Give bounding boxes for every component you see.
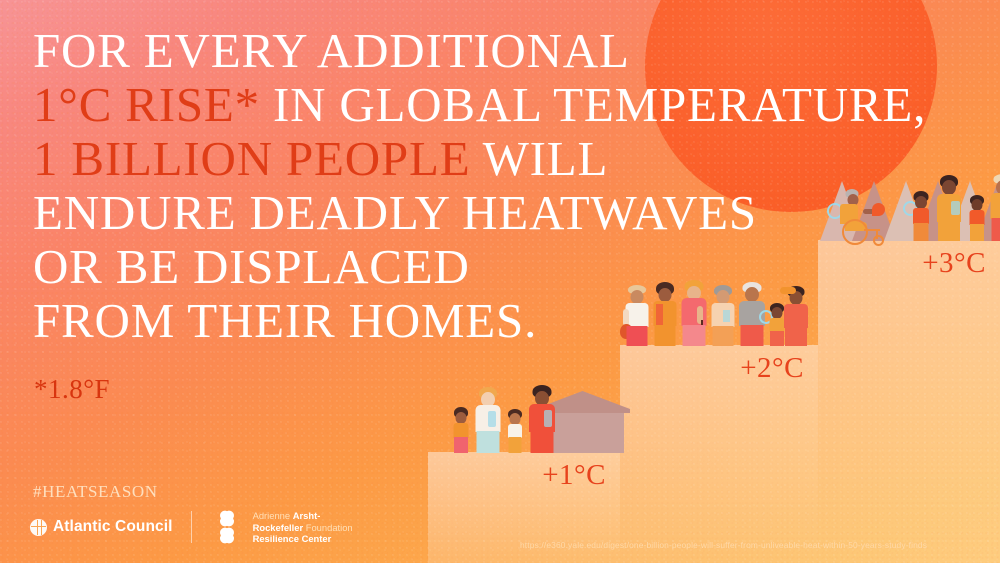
- person-adult: [988, 173, 1000, 241]
- infographic-poster: FOR EVERY ADDITIONAL 1°C RISE* IN GLOBAL…: [0, 0, 1000, 563]
- headline-line-2: 1°C RISE* IN GLOBAL TEMPERATURE,: [33, 78, 893, 132]
- headline-line-4: ENDURE DEADLY HEATWAVES: [33, 186, 893, 240]
- person-worker-with-shovel: [622, 284, 652, 346]
- legs: [992, 218, 1000, 241]
- head: [745, 287, 759, 302]
- arsht-rockefeller: Rockefeller: [253, 522, 306, 533]
- hashtag-heatseason: #HEATSEASON: [33, 482, 158, 502]
- footnote-fahrenheit: *1.8°F: [34, 374, 110, 405]
- torso: [784, 304, 808, 328]
- legs: [477, 431, 500, 453]
- headline-segment: OR BE DISPLACED: [33, 239, 470, 294]
- arsht-rock-logo[interactable]: Adrienne Arsht- Rockefeller Foundation R…: [210, 510, 353, 545]
- bag: [723, 310, 730, 322]
- pinwheel-icon: [210, 510, 244, 544]
- scene-displacement-tents: [818, 168, 1000, 241]
- headline-segment: FOR EVERY ADDITIONAL: [33, 23, 630, 78]
- person-adult: [472, 387, 504, 453]
- water-bottle-icon: [780, 287, 796, 294]
- legs: [713, 326, 734, 346]
- torso: [913, 208, 929, 224]
- headline-segment-accent: 1°C RISE*: [33, 77, 260, 132]
- legs: [454, 437, 468, 453]
- step-label-3c: +3°C: [922, 247, 986, 280]
- head: [631, 290, 644, 304]
- step-bar-3c: +3°C: [818, 240, 1000, 563]
- bag: [951, 201, 960, 215]
- legs: [655, 325, 676, 346]
- bag: [544, 410, 552, 427]
- person-adult: [934, 175, 964, 241]
- headline-segment: IN GLOBAL TEMPERATURE,: [260, 77, 926, 132]
- legs: [509, 437, 522, 453]
- legs: [683, 325, 706, 346]
- headline-segment: ENDURE DEADLY HEATWAVES: [33, 185, 757, 240]
- head: [942, 180, 956, 195]
- headline-line-1: FOR EVERY ADDITIONAL: [33, 24, 893, 78]
- person-adult: [526, 385, 558, 453]
- logo-row: Atlantic Council Adrienne Arsht- Rockefe…: [30, 510, 353, 545]
- person-adult: [650, 282, 680, 346]
- arsht-line-1: Adrienne Arsht-: [253, 510, 353, 522]
- arsht-arsht: Arsht-: [293, 510, 321, 521]
- person-child: [450, 405, 472, 453]
- atlantic-council-label: Atlantic Council: [53, 518, 173, 536]
- globe-icon: [30, 519, 47, 536]
- scene-family-home: [428, 380, 628, 453]
- logo-divider: [191, 511, 192, 543]
- wheelchair-wheel: [842, 219, 868, 245]
- arsht-rock-label: Adrienne Arsht- Rockefeller Foundation R…: [253, 510, 353, 545]
- person-elderly-with-cane: [678, 280, 710, 346]
- arsht-line-3: Resilience Center: [253, 533, 353, 545]
- step-label-2c: +2°C: [740, 352, 804, 385]
- legs: [785, 327, 807, 346]
- person-adult: [708, 284, 738, 346]
- hand-fan-icon: [872, 203, 885, 216]
- source-url[interactable]: https://e360.yale.edu/digest/one-billion…: [520, 540, 927, 550]
- legs: [970, 224, 984, 241]
- arsht-resilience-center: Resilience Center: [253, 533, 332, 544]
- step-bar-2c: +2°C: [620, 345, 818, 563]
- headline-line-3: 1 BILLION PEOPLE WILL: [33, 132, 893, 186]
- bag: [488, 411, 496, 427]
- atlantic-council-logo[interactable]: Atlantic Council: [30, 518, 173, 536]
- arsht-foundation: Foundation: [306, 522, 353, 533]
- person-in-wheelchair: [836, 183, 882, 241]
- wheelchair-caster: [873, 235, 884, 246]
- person-drinking-water: [780, 284, 812, 346]
- legs: [627, 326, 648, 346]
- headline-segment: FROM THEIR HOMES.: [33, 293, 537, 348]
- legs: [938, 221, 960, 241]
- headline-segment: WILL: [470, 131, 608, 186]
- step-label-1c: +1°C: [542, 459, 606, 492]
- step-face: [818, 240, 1000, 563]
- person-child: [966, 193, 988, 241]
- person-child: [910, 189, 932, 241]
- torso: [508, 424, 522, 438]
- torso: [991, 193, 1000, 219]
- arsht-adrienne: Adrienne: [253, 510, 293, 521]
- legs: [531, 431, 554, 453]
- legs: [914, 223, 929, 241]
- torso: [970, 210, 985, 225]
- scene-crowd: [620, 278, 820, 346]
- head: [659, 288, 672, 302]
- arsht-line-2: Rockefeller Foundation: [253, 522, 353, 534]
- headline-segment-accent: 1 BILLION PEOPLE: [33, 131, 470, 186]
- legs: [741, 325, 764, 346]
- person-child: [504, 407, 526, 453]
- torso: [454, 423, 469, 438]
- head: [717, 290, 730, 304]
